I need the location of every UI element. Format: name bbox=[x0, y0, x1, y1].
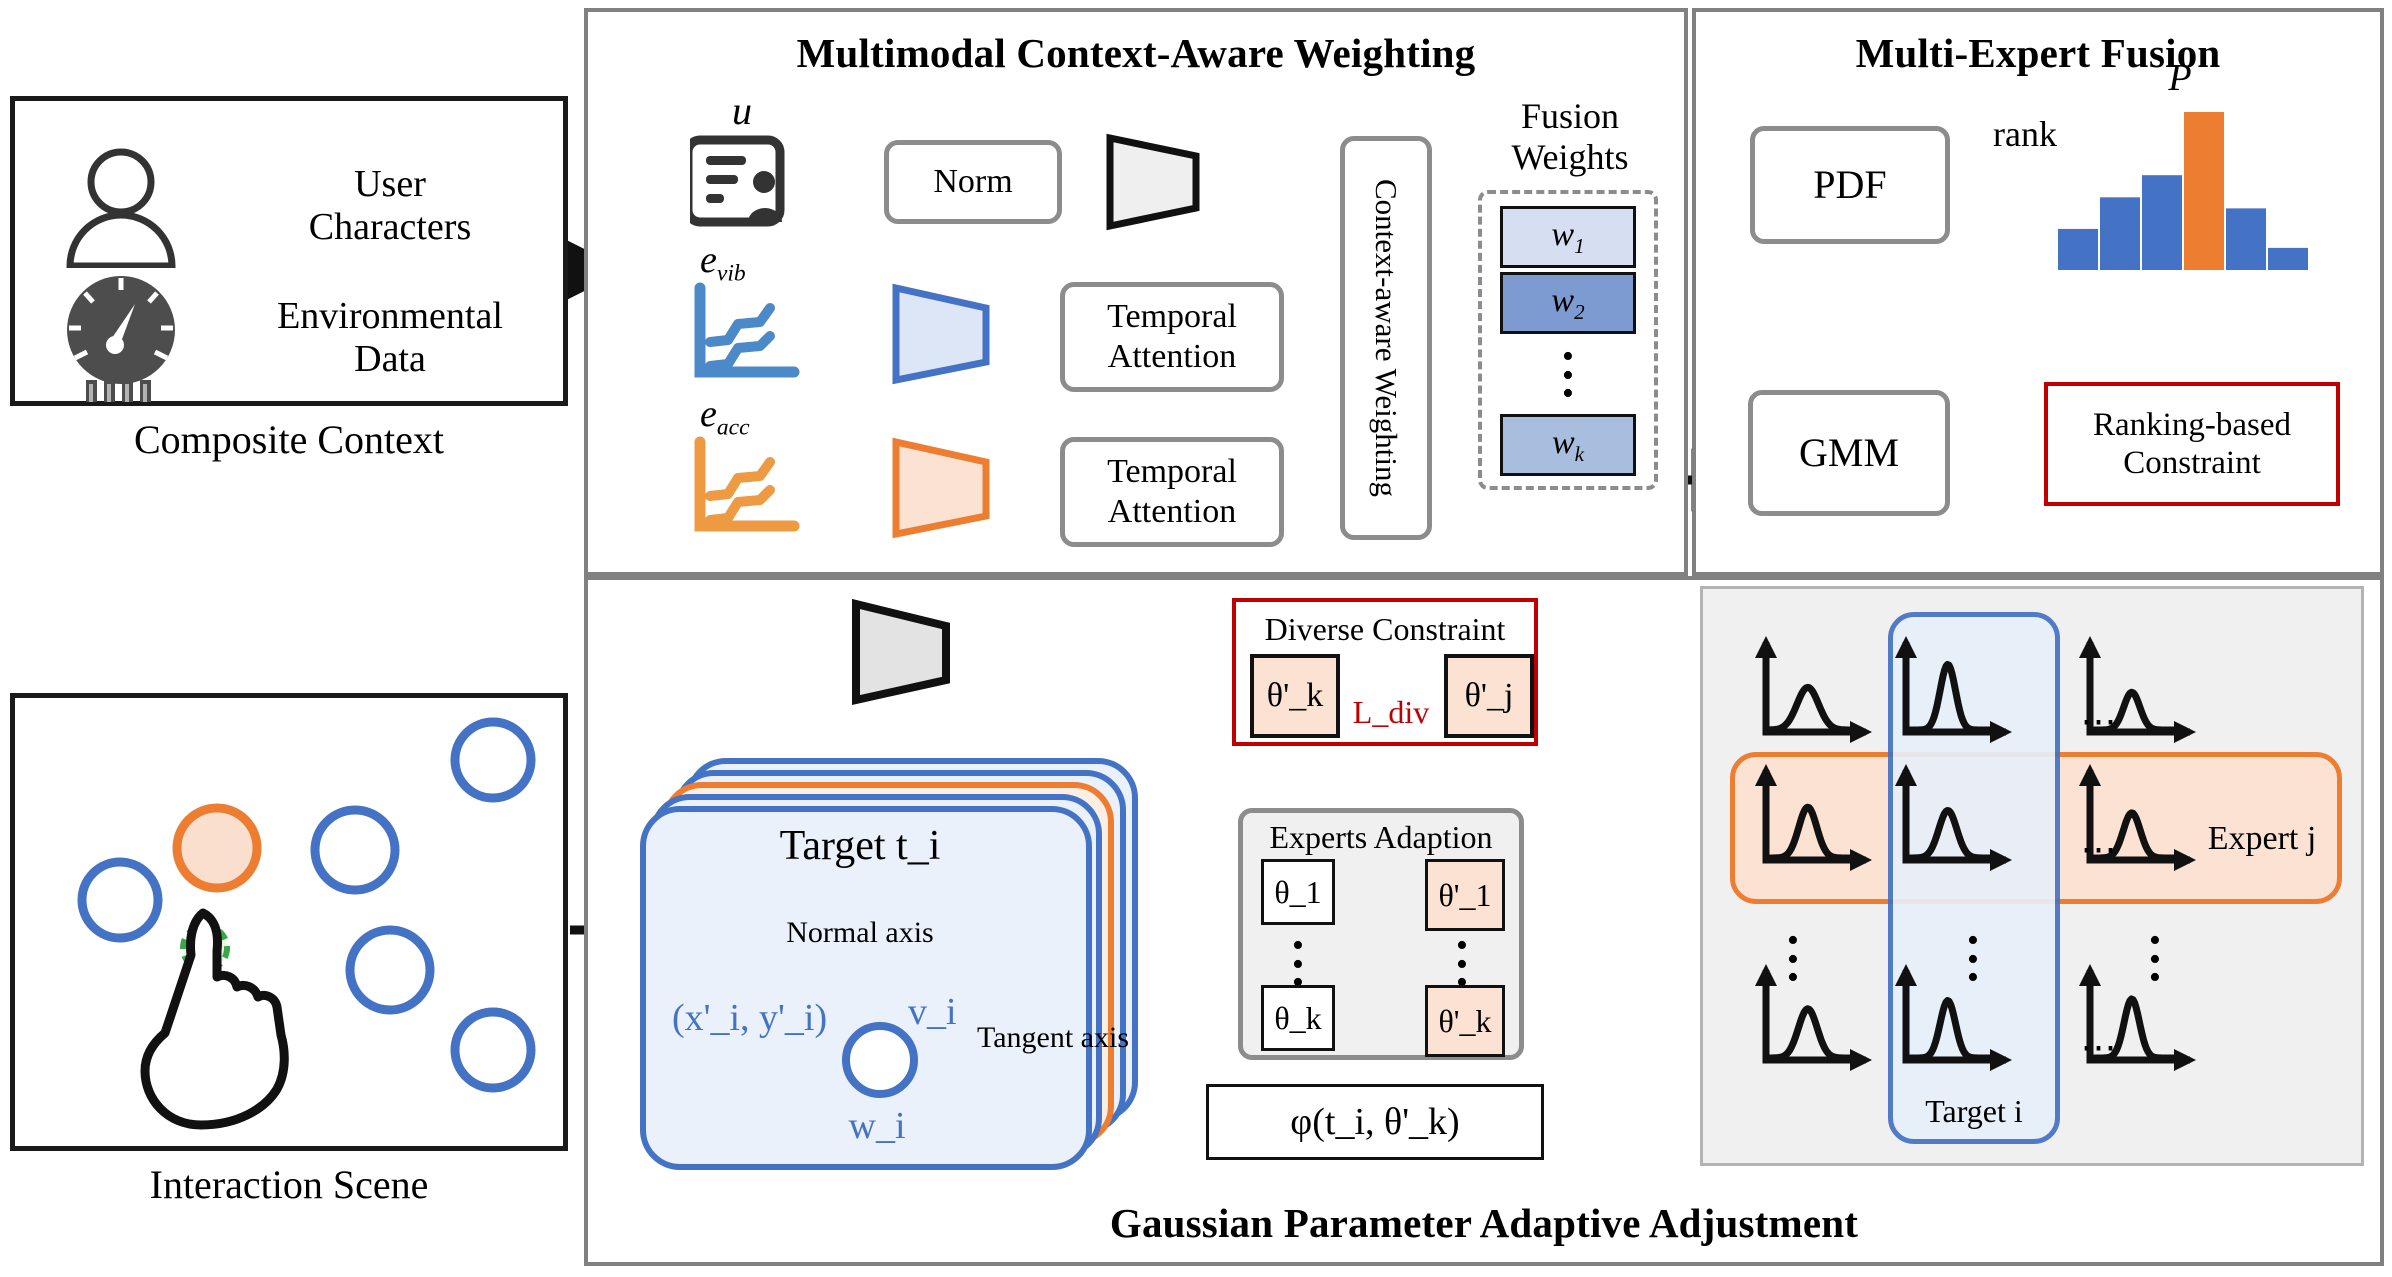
fusion-weights-label: Fusion Weights bbox=[1470, 92, 1670, 182]
temporal-attention-box-acc[interactable]: Temporal Attention bbox=[1060, 437, 1284, 547]
composite-context-caption: Composite Context bbox=[10, 412, 568, 466]
mef-panel-title: Multi-Expert Fusion bbox=[1692, 28, 2384, 78]
mcaw-panel-title: Multimodal Context-Aware Weighting bbox=[584, 28, 1688, 78]
stream-symbol-u: u bbox=[710, 88, 774, 132]
gauge-sensor-icon bbox=[51, 269, 191, 404]
target-card-title-text: Target t_i bbox=[780, 822, 941, 870]
encoder-fu-label: f_u bbox=[1106, 134, 1212, 230]
encoder-ft[interactable]: f_t bbox=[852, 600, 960, 704]
stream-symbol-eacc: eacc bbox=[700, 392, 750, 442]
gpaa-panel-title: Gaussian Parameter Adaptive Adjustment bbox=[584, 1196, 2384, 1250]
norm-box[interactable]: Norm bbox=[884, 140, 1062, 224]
theta-prime-j-chip[interactable]: θ'_j bbox=[1444, 654, 1534, 738]
experts-adaption-box: Experts Adaption θ_1 θ'_1 ••• ••• θ_k θ'… bbox=[1238, 808, 1524, 1060]
weight-chip-wk[interactable]: wk bbox=[1500, 414, 1636, 476]
grid-row1-ellipsis: ⋯ bbox=[2070, 700, 2130, 742]
grid-row2-ellipsis: ⋯ bbox=[2070, 828, 2130, 870]
blue-signal-plot-icon bbox=[690, 282, 802, 384]
target-center-circle bbox=[842, 1022, 918, 1098]
grid-col2-vdots: ••• bbox=[1948, 932, 1998, 988]
experts-adaption-title: Experts Adaption bbox=[1243, 817, 1519, 859]
target-card-title: Target t_i bbox=[640, 820, 1080, 872]
orange-signal-plot-icon bbox=[690, 436, 802, 538]
histogram-axis-symbol-P: P bbox=[2150, 58, 2210, 98]
div-loss-label: L_div bbox=[1336, 690, 1446, 734]
weights-vertical-ellipsis: ••• bbox=[1500, 348, 1636, 404]
theta-prime-1-chip[interactable]: θ'_1 bbox=[1425, 859, 1505, 931]
composite-context-box: User Characters Env bbox=[10, 96, 568, 406]
normal-axis-label: Normal axis bbox=[770, 896, 950, 970]
encoder-fa-label: f_a bbox=[892, 438, 1004, 538]
encoder-ft-label: f_t bbox=[852, 600, 960, 704]
target-position-label: (x'_i, y'_i) bbox=[672, 996, 827, 1040]
context-aware-weighting-box[interactable]: Context-aware Weighting bbox=[1340, 136, 1432, 540]
temporal-attention-box-vib[interactable]: Temporal Attention bbox=[1060, 282, 1284, 392]
weight-chip-w1-label: w1 bbox=[1551, 216, 1584, 259]
theta-1-chip[interactable]: θ_1 bbox=[1261, 859, 1335, 925]
theta-prime-k-chip[interactable]: θ'_k bbox=[1250, 654, 1340, 738]
grid-row3-ellipsis: ⋯ bbox=[2070, 1026, 2130, 1068]
context-aware-weighting-label: Context-aware Weighting bbox=[1368, 179, 1404, 497]
encoder-fa[interactable]: f_a bbox=[892, 438, 1004, 538]
user-profile-card-icon bbox=[690, 134, 800, 230]
encoder-fu[interactable]: f_u bbox=[1106, 134, 1212, 230]
weight-chip-wk-label: wk bbox=[1552, 424, 1584, 467]
interaction-scene-box bbox=[10, 693, 568, 1151]
theta-prime-k-chip-2[interactable]: θ'_k bbox=[1425, 985, 1505, 1057]
phi-box[interactable]: φ(t_i, θ'_k) bbox=[1206, 1084, 1544, 1160]
environmental-data-label: Environmental Data bbox=[215, 273, 565, 403]
grid-col1-vdots: ••• bbox=[1768, 932, 1818, 988]
pdf-box[interactable]: PDF bbox=[1750, 126, 1950, 244]
grid-col3-vdots: ••• bbox=[2130, 932, 2180, 988]
encoder-fv-label: f_v bbox=[892, 284, 1004, 384]
expert-grid-curves bbox=[1700, 586, 2364, 1166]
pointing-hand-icon bbox=[105, 903, 315, 1133]
target-width-label: w_i bbox=[822, 1104, 932, 1148]
phi-box-label: φ(t_i, θ'_k) bbox=[1290, 1100, 1459, 1144]
gmm-box[interactable]: GMM bbox=[1748, 390, 1950, 516]
weight-chip-w2[interactable]: w2 bbox=[1500, 272, 1636, 334]
stream-symbol-evib: evib bbox=[700, 238, 746, 288]
theta-k-chip[interactable]: θ_k bbox=[1261, 985, 1335, 1051]
diverse-constraint-title: Diverse Constraint bbox=[1236, 608, 1534, 652]
weight-chip-w2-label: w2 bbox=[1551, 282, 1584, 325]
encoder-fv[interactable]: f_v bbox=[892, 284, 1004, 384]
weight-chip-w1[interactable]: w1 bbox=[1500, 206, 1636, 268]
user-characters-label: User Characters bbox=[225, 141, 555, 271]
user-icon bbox=[51, 143, 191, 273]
target-velocity-label: v_i bbox=[908, 990, 957, 1034]
diverse-constraint-box: Diverse Constraint θ'_k θ'_j L_div bbox=[1232, 598, 1538, 746]
interaction-scene-caption: Interaction Scene bbox=[10, 1156, 568, 1212]
ranking-based-constraint-box[interactable]: Ranking-based Constraint bbox=[2044, 382, 2340, 506]
rank-histogram bbox=[2052, 100, 2332, 278]
tangent-axis-label: Tangent axis bbox=[960, 1000, 1146, 1076]
